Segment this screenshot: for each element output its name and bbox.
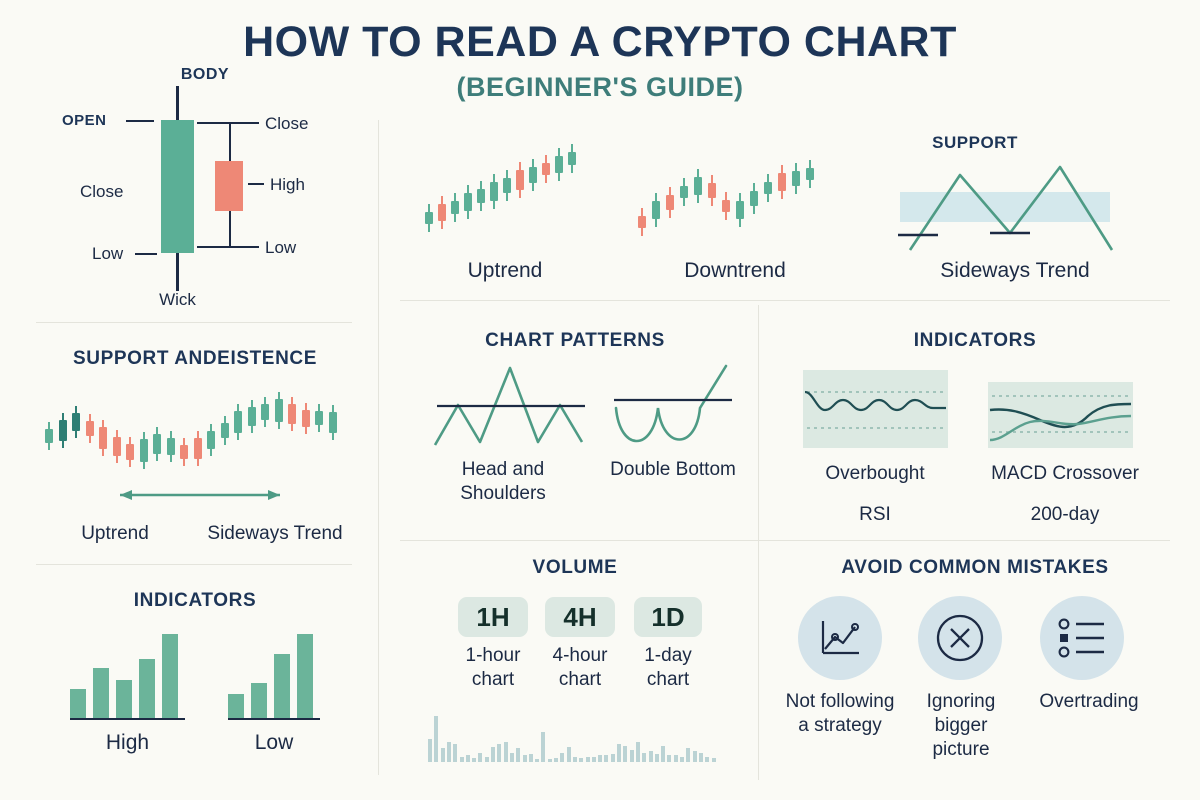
candle xyxy=(153,388,161,468)
candle-body xyxy=(736,201,744,219)
candle-body xyxy=(315,411,323,425)
timeframe-1h-desc: 1-hour chart xyxy=(450,644,536,692)
volume-bar xyxy=(529,754,533,762)
label-high-right: High xyxy=(270,175,305,195)
timeframe-1d-desc-line2: chart xyxy=(647,669,689,690)
candle xyxy=(708,140,716,250)
tick-open xyxy=(126,120,154,122)
label-wick: Wick xyxy=(150,290,205,310)
downtrend-label: Downtrend xyxy=(640,258,830,284)
volume-bar xyxy=(649,751,653,762)
timeframe-1h-desc-line2: chart xyxy=(472,669,514,690)
candle-body xyxy=(194,438,202,459)
volume-title: VOLUME xyxy=(400,557,750,579)
label-close-left: Close xyxy=(80,182,123,202)
candle-body xyxy=(167,438,175,455)
volume-bar xyxy=(630,750,634,762)
volume-bar xyxy=(604,755,608,762)
volume-bar xyxy=(510,753,514,762)
candle-body xyxy=(248,407,256,426)
double-bottom-figure xyxy=(608,360,738,455)
candle xyxy=(86,388,94,468)
rsi-name: Overbought xyxy=(790,462,960,486)
candle-body xyxy=(288,404,296,424)
volume-bar xyxy=(573,757,577,762)
mistake-icon-circle-2 xyxy=(918,596,1002,680)
candle-body xyxy=(59,420,67,441)
right-indicators-title: INDICATORS xyxy=(780,330,1170,352)
volume-bar xyxy=(611,754,615,762)
label-body: BODY xyxy=(150,66,260,84)
candle-body xyxy=(652,201,660,219)
label-sideways-left: Sideways Trend xyxy=(195,522,355,546)
candle xyxy=(503,140,511,250)
candle xyxy=(778,140,786,250)
candle-body xyxy=(555,156,563,173)
timeframe-4h-desc-line2: chart xyxy=(559,669,601,690)
candle-right-body xyxy=(215,161,243,211)
candle xyxy=(722,140,730,250)
infographic-canvas: HOW TO READ A CRYPTO CHART (BEGINNER'S G… xyxy=(0,0,1200,800)
candle-body xyxy=(464,193,472,211)
candle xyxy=(638,140,646,250)
candle xyxy=(694,140,702,250)
mistake-label-2: Ignoring bigger picture xyxy=(905,690,1017,761)
indicator-bar xyxy=(70,689,86,718)
bar-group-low-label: Low xyxy=(228,730,320,756)
timeframe-chip-4h[interactable]: 4H xyxy=(545,597,615,637)
mistake-label-2-line1: Ignoring xyxy=(927,691,996,712)
volume-bar xyxy=(699,753,703,762)
candle xyxy=(516,140,524,250)
candle-body xyxy=(792,171,800,186)
indicator-bar xyxy=(251,683,267,718)
tick-close-right xyxy=(197,122,259,124)
volume-bar xyxy=(554,758,558,762)
candle-body xyxy=(490,182,498,201)
candle xyxy=(329,388,337,468)
label-uptrend-left: Uptrend xyxy=(55,522,175,546)
volume-bar xyxy=(428,739,432,762)
divider-left-2 xyxy=(36,564,352,565)
candle xyxy=(248,388,256,468)
candle xyxy=(234,388,242,468)
candle-body xyxy=(568,152,576,165)
left-indicators-title: INDICATORS xyxy=(30,590,360,612)
candle xyxy=(568,140,576,250)
volume-bar xyxy=(548,759,552,762)
candle-body xyxy=(140,439,148,462)
candle-body xyxy=(438,204,446,221)
volume-bar xyxy=(491,747,495,762)
candle xyxy=(180,388,188,468)
volume-bar xyxy=(667,755,671,762)
candle xyxy=(477,140,485,250)
candle xyxy=(451,140,459,250)
candle-body xyxy=(153,434,161,454)
candle-body xyxy=(425,212,433,224)
candle-body xyxy=(806,168,814,180)
indicator-bar xyxy=(228,694,244,718)
candle xyxy=(207,388,215,468)
volume-bar xyxy=(504,742,508,762)
mistakes-title: AVOID COMMON MISTAKES xyxy=(780,557,1170,579)
divider-vertical-main xyxy=(378,120,379,775)
candle xyxy=(261,388,269,468)
candle xyxy=(542,140,550,250)
indicator-bar xyxy=(274,654,290,718)
checklist-icon xyxy=(1054,613,1110,663)
volume-bar xyxy=(712,758,716,762)
candle-body xyxy=(261,404,269,420)
timeframe-chip-1h-label: 1H xyxy=(476,602,509,633)
volume-bar xyxy=(516,748,520,762)
volume-bar xyxy=(693,751,697,762)
candle-body xyxy=(708,183,716,198)
indicator-bar xyxy=(116,680,132,718)
volume-bar xyxy=(453,744,457,762)
volume-bar xyxy=(655,754,659,762)
candle-anatomy-diagram: BODY OPEN Close Low Wick Close High Low xyxy=(30,58,360,318)
candle xyxy=(490,140,498,250)
candle xyxy=(750,140,758,250)
candle-body xyxy=(234,411,242,433)
volume-bar xyxy=(661,746,665,762)
macd-name: MACD Crossover xyxy=(975,462,1155,486)
volume-bar xyxy=(686,748,690,762)
candle xyxy=(736,140,744,250)
candle xyxy=(140,388,148,468)
bar-axis-low xyxy=(228,718,320,720)
candle xyxy=(45,388,53,468)
volume-bar xyxy=(674,755,678,762)
candle xyxy=(288,388,296,468)
volume-bar xyxy=(460,757,464,762)
sideways-zigzag xyxy=(890,145,1140,260)
candle-body xyxy=(221,423,229,438)
mistake-label-2-line3: picture xyxy=(932,739,989,760)
volume-bar xyxy=(598,755,602,762)
label-low-right: Low xyxy=(265,238,296,258)
candle-body xyxy=(503,178,511,193)
label-close-right: Close xyxy=(265,114,308,134)
volume-bar xyxy=(642,753,646,762)
candle-body xyxy=(516,170,524,190)
candle-body xyxy=(638,216,646,228)
macd-sub: 200-day xyxy=(975,503,1155,527)
candle xyxy=(764,140,772,250)
volume-bar xyxy=(680,757,684,762)
volume-bar xyxy=(586,757,590,762)
candle xyxy=(302,388,310,468)
divider-right-2 xyxy=(400,540,1170,541)
candle xyxy=(529,140,537,250)
candle-body xyxy=(126,444,134,460)
chart-patterns-title: CHART PATTERNS xyxy=(400,330,750,352)
candle xyxy=(126,388,134,468)
timeframe-chip-4h-label: 4H xyxy=(563,602,596,633)
candle-body xyxy=(451,201,459,214)
volume-bar xyxy=(447,742,451,762)
sideways-trend-label: Sideways Trend xyxy=(900,258,1130,284)
volume-bar xyxy=(485,757,489,762)
indicator-bar xyxy=(139,659,155,718)
candle xyxy=(792,140,800,250)
candle xyxy=(464,140,472,250)
volume-bar-strip xyxy=(428,712,718,762)
candle-body xyxy=(542,163,550,175)
candle-body xyxy=(764,182,772,194)
candle xyxy=(680,140,688,250)
bar-group-high-label: High xyxy=(70,730,185,756)
volume-bar xyxy=(636,742,640,762)
head-and-shoulders-figure xyxy=(430,360,590,455)
candle-left-body xyxy=(161,120,194,253)
candle xyxy=(99,388,107,468)
mistake-label-1: Not following a strategy xyxy=(778,690,902,738)
indicator-bar xyxy=(93,668,109,718)
rsi-curve xyxy=(803,370,948,448)
volume-bar xyxy=(592,757,596,762)
rsi-sub: RSI xyxy=(790,503,960,527)
candle-body xyxy=(72,413,80,431)
candle-body xyxy=(529,167,537,183)
divider-left-1 xyxy=(36,322,352,323)
volume-bar xyxy=(472,758,476,762)
candle xyxy=(275,388,283,468)
divider-vertical-mid xyxy=(758,305,759,780)
line-chart-icon xyxy=(813,611,867,665)
candle-body xyxy=(275,399,283,422)
volume-bar xyxy=(478,753,482,762)
uptrend-candle-series xyxy=(425,140,585,250)
volume-bar xyxy=(567,747,571,762)
volume-bar xyxy=(497,744,501,762)
candle-body xyxy=(207,431,215,449)
mistake-icon-circle-3 xyxy=(1040,596,1124,680)
candle-body xyxy=(329,412,337,433)
indicator-bar xyxy=(297,634,313,718)
mistake-label-3-line1: Overtrading xyxy=(1039,691,1138,712)
candle-body xyxy=(680,186,688,198)
timeframe-chip-1d[interactable]: 1D xyxy=(634,597,702,637)
candle-body xyxy=(45,429,53,443)
label-open: OPEN xyxy=(62,112,107,129)
candle-body xyxy=(694,177,702,195)
tick-high-right xyxy=(248,183,264,185)
candle-body xyxy=(722,200,730,212)
candle-body xyxy=(750,191,758,206)
indicator-bar xyxy=(162,634,178,718)
candle-body xyxy=(99,427,107,449)
volume-bar xyxy=(560,753,564,762)
volume-bar xyxy=(579,758,583,762)
candle xyxy=(438,140,446,250)
mistake-label-1-line1: Not following xyxy=(786,691,895,712)
timeframe-4h-desc: 4-hour chart xyxy=(537,644,623,692)
tick-low-left xyxy=(135,253,157,255)
timeframe-chip-1d-label: 1D xyxy=(651,602,684,633)
volume-bar xyxy=(523,755,527,762)
label-low-left: Low xyxy=(92,244,123,264)
trend-arrow xyxy=(110,485,290,505)
volume-bar xyxy=(434,716,438,762)
bar-axis-high xyxy=(70,718,185,720)
downtrend-candle-series xyxy=(638,140,828,250)
candle xyxy=(425,140,433,250)
volume-bar xyxy=(705,757,709,762)
mistake-label-3: Overtrading xyxy=(1024,690,1154,714)
candle xyxy=(72,388,80,468)
timeframe-1d-desc: 1-day chart xyxy=(625,644,711,692)
volume-bar xyxy=(541,732,545,762)
candle xyxy=(652,140,660,250)
candle xyxy=(221,388,229,468)
candle xyxy=(113,388,121,468)
macd-curves xyxy=(988,382,1133,448)
candle-body xyxy=(778,173,786,191)
x-circle-icon xyxy=(932,610,988,666)
volume-bar xyxy=(466,755,470,762)
mistake-label-1-line2: a strategy xyxy=(798,715,881,736)
candle-body xyxy=(477,189,485,203)
candle-body xyxy=(180,445,188,459)
head-and-shoulders-label: Head and Shoulders xyxy=(428,458,578,506)
candle-body xyxy=(86,421,94,436)
timeframe-4h-desc-line1: 4-hour xyxy=(553,645,608,666)
double-bottom-label: Double Bottom xyxy=(608,458,738,482)
bar-group-high xyxy=(70,630,185,722)
support-resistance-title: SUPPORT ANDEISTENCE xyxy=(30,348,360,370)
candle-body xyxy=(113,437,121,456)
candle xyxy=(167,388,175,468)
volume-bar xyxy=(623,746,627,762)
volume-bar xyxy=(535,759,539,762)
candle xyxy=(59,388,67,468)
support-resistance-candle-series xyxy=(45,388,350,468)
tick-low-right xyxy=(197,246,259,248)
divider-right-1 xyxy=(400,300,1170,301)
mistake-label-2-line2: bigger xyxy=(935,715,988,736)
candle xyxy=(315,388,323,468)
candle xyxy=(194,388,202,468)
bar-group-low xyxy=(228,630,320,722)
candle xyxy=(555,140,563,250)
mistake-icon-circle-1 xyxy=(798,596,882,680)
timeframe-1d-desc-line1: 1-day xyxy=(644,645,692,666)
candle xyxy=(806,140,814,250)
candle-body xyxy=(666,195,674,210)
uptrend-label: Uptrend xyxy=(415,258,595,284)
candle-body xyxy=(302,410,310,427)
timeframe-chip-1h[interactable]: 1H xyxy=(458,597,528,637)
volume-bar xyxy=(617,744,621,762)
volume-bar xyxy=(441,748,445,762)
timeframe-1h-desc-line1: 1-hour xyxy=(466,645,521,666)
candle xyxy=(666,140,674,250)
